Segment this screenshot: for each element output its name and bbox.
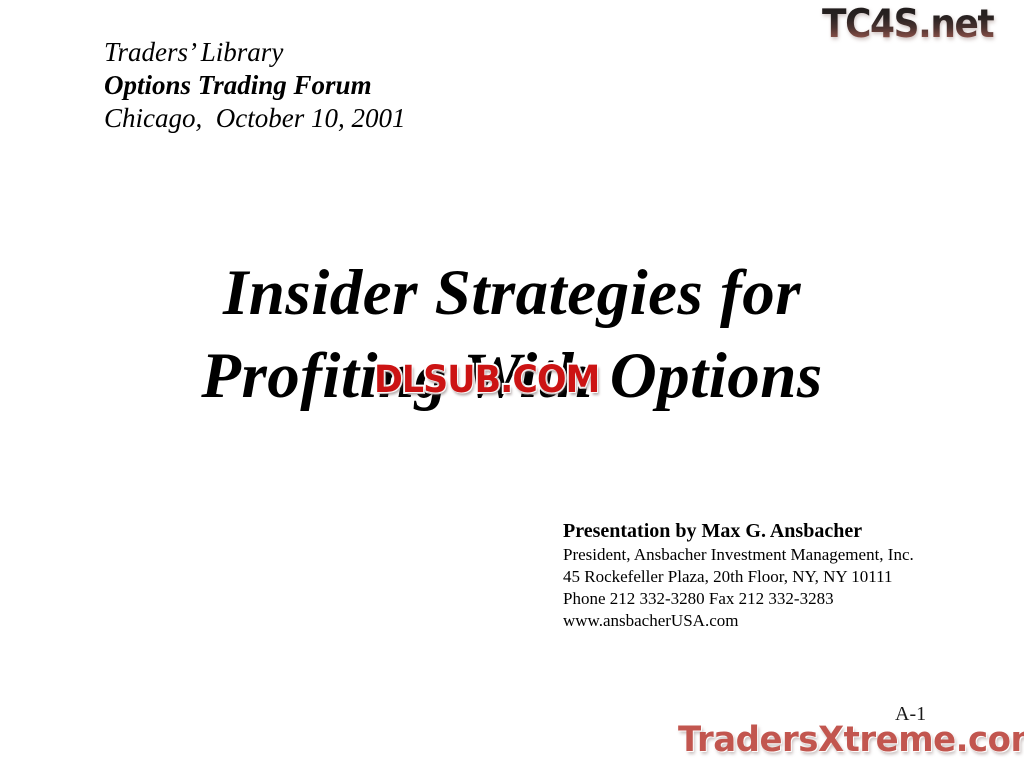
event-organizer: Traders’ Library	[104, 36, 624, 69]
event-header: Traders’ Library Options Trading Forum C…	[104, 36, 624, 135]
presenter-website: www.ansbacherUSA.com	[563, 610, 993, 632]
presenter-contact: Phone 212 332-3280 Fax 212 332-3283	[563, 588, 993, 610]
presenter-address: 45 Rockefeller Plaza, 20th Floor, NY, NY…	[563, 566, 993, 588]
presenter-name: Presentation by Max G. Ansbacher	[563, 519, 993, 544]
tradersxtreme-logo: TradersXtreme.com	[678, 718, 1024, 762]
event-location-date: Chicago, October 10, 2001	[104, 102, 624, 135]
presenter-details: Presentation by Max G. Ansbacher Preside…	[563, 519, 993, 632]
presentation-slide: TC4S.net Traders’ Library Options Tradin…	[0, 0, 1024, 768]
dlsub-watermark: DLSUB.COM	[374, 357, 599, 403]
presenter-role: President, Ansbacher Investment Manageme…	[563, 544, 993, 566]
tc4s-logo: TC4S.net	[822, 2, 1006, 48]
event-name: Options Trading Forum	[104, 69, 624, 102]
title-line-1: Insider Strategies for	[0, 252, 1024, 335]
